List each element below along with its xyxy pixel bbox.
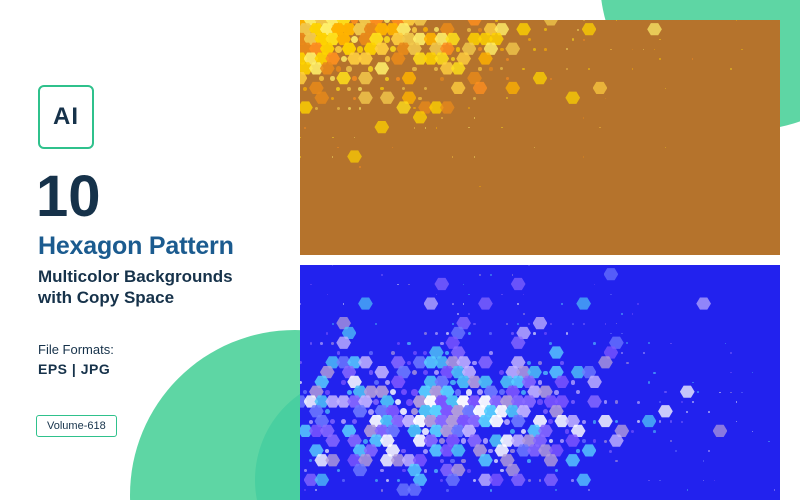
file-formats-label: File Formats: (38, 342, 114, 357)
volume-badge: Volume-618 (36, 415, 117, 437)
hexagon-dot-pattern-blue (300, 265, 780, 500)
info-panel: AI 10 Hexagon Pattern Multicolor Backgro… (0, 0, 300, 500)
item-count: 10 (36, 168, 101, 226)
preview-hexagon-pattern-blue (300, 265, 780, 500)
page-subtitle-line1: Multicolor Backgrounds (38, 266, 288, 287)
page-title: Hexagon Pattern (38, 232, 234, 261)
page-subtitle-line2: with Copy Space (38, 287, 288, 308)
page-subtitle: Multicolor Backgrounds with Copy Space (38, 266, 288, 309)
preview-hexagon-pattern-orange (300, 20, 780, 255)
poster-canvas: AI 10 Hexagon Pattern Multicolor Backgro… (0, 0, 800, 500)
hexagon-dot-pattern-orange (300, 20, 780, 255)
file-formats-value: EPS | JPG (38, 361, 110, 377)
ai-format-badge: AI (38, 85, 94, 149)
ai-format-badge-label: AI (53, 103, 79, 131)
